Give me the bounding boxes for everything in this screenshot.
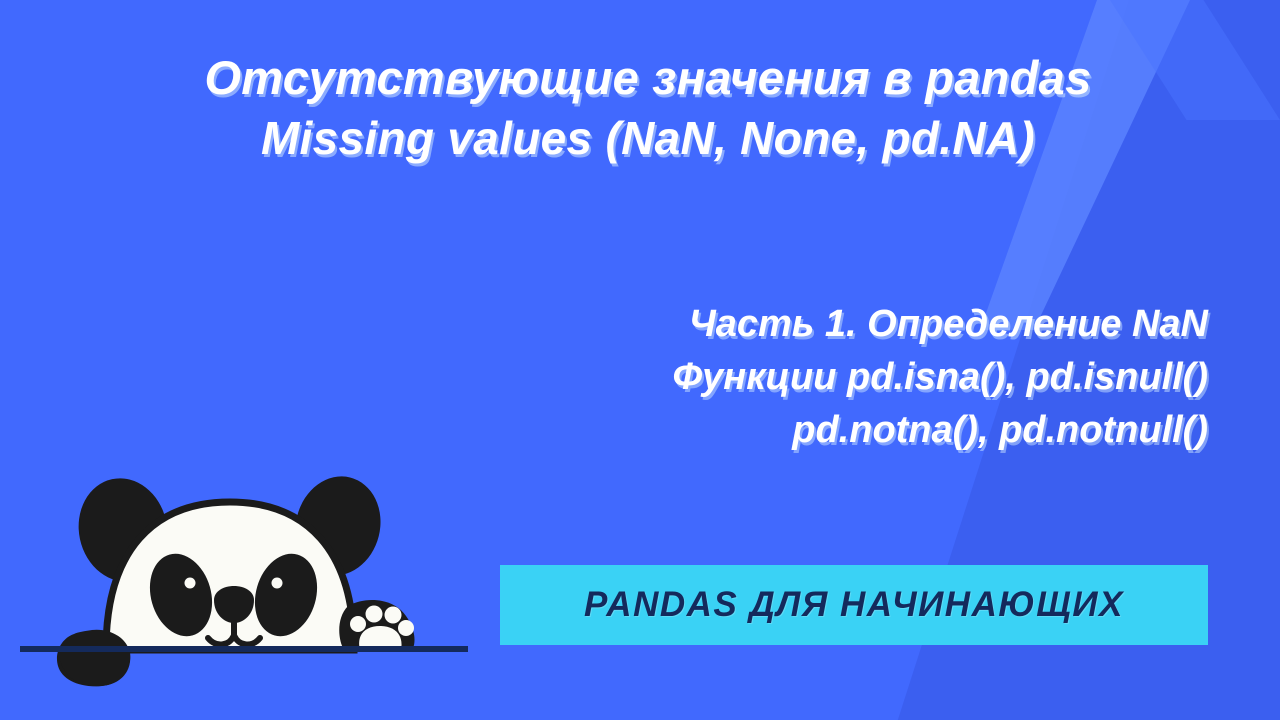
panda-paw-toe-2 [366, 606, 383, 623]
title-line-english: Missing values (NaN, None, pd.NA) [88, 108, 1208, 168]
slide-canvas: Отсутствующие значения в pandas Missing … [0, 0, 1280, 720]
panda-paw-left-front [58, 652, 130, 686]
panda-paw-toe-3 [385, 607, 402, 624]
panda-paw-toe-4 [398, 620, 414, 636]
title-line-russian: Отсутствующие значения в pandas [88, 48, 1208, 108]
panda-eye-right [272, 578, 283, 589]
subtitle-line-functions-isna: Функции pd.isna(), pd.isnull() [68, 351, 1208, 404]
title-block: Отсутствующие значения в pandas Missing … [88, 48, 1208, 168]
panda-ledge-line [20, 646, 468, 652]
panda-eye-left [185, 578, 196, 589]
series-banner-label: PANDAS ДЛЯ НАЧИНАЮЩИХ [584, 585, 1124, 625]
series-banner: PANDAS ДЛЯ НАЧИНАЮЩИХ [500, 565, 1208, 645]
panda-paw-toe-1 [350, 616, 366, 632]
subtitle-line-part: Часть 1. Определение NaN [68, 298, 1208, 351]
subtitle-block: Часть 1. Определение NaN Функции pd.isna… [68, 298, 1208, 457]
panda-mascot [18, 438, 478, 688]
